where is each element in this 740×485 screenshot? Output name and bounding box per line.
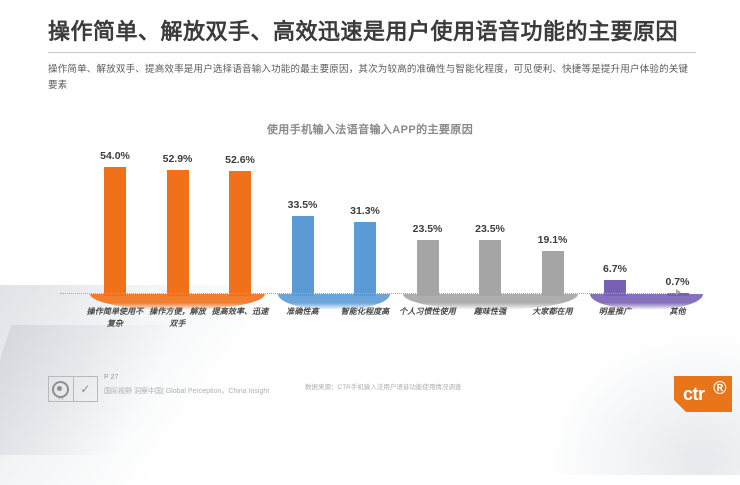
bar-value-label: 33.5%: [288, 199, 318, 211]
bar-group: 6.7%: [586, 3, 644, 296]
page-number: P 27: [104, 374, 118, 381]
bar[interactable]: [354, 222, 376, 296]
category-label: 个人习惯性使用: [399, 306, 457, 318]
footer-brand-line: 国际视野 洞察中国| Global Perception，China Insig…: [104, 386, 269, 396]
x-axis-line: [60, 293, 678, 294]
bar[interactable]: [167, 170, 189, 296]
bar-group: 31.3%: [336, 3, 394, 296]
bar-group: 52.6%: [211, 3, 269, 296]
bar-value-label: 23.5%: [475, 223, 505, 235]
bar-value-label: 52.9%: [163, 153, 193, 165]
category-label: 操作方便，解放双手: [149, 306, 207, 329]
bar[interactable]: [104, 167, 126, 296]
bar-group: 23.5%: [461, 3, 519, 296]
bar-value-label: 23.5%: [413, 223, 443, 235]
bar[interactable]: [229, 171, 251, 296]
bar[interactable]: [542, 251, 564, 296]
bar-value-label: 6.7%: [603, 263, 627, 275]
bar-group: 0.7%: [649, 3, 707, 296]
bar[interactable]: [479, 240, 501, 296]
ctr-logo-trademark: ®: [713, 379, 726, 397]
bar[interactable]: [417, 240, 439, 296]
category-label: 大家都在用: [524, 306, 582, 318]
cert-check-icon: ✓: [73, 377, 98, 401]
bar-value-label: 52.6%: [225, 154, 255, 166]
slide-footer: 认证 ✓ P 27 国际视野 洞察中国| Global Perception，C…: [0, 372, 740, 415]
category-label: 操作简单使用不复杂: [86, 306, 144, 329]
cert-caption: 认证: [58, 396, 64, 400]
bar-group: 23.5%: [399, 3, 457, 296]
bar-value-label: 31.3%: [350, 205, 380, 217]
bar-value-label: 19.1%: [538, 234, 568, 246]
cert-ring-icon: 认证: [49, 377, 73, 401]
bar-chart: 54.0%52.9%52.6%33.5%31.3%23.5%23.5%19.1%…: [0, 0, 740, 296]
category-label: 其他: [649, 306, 707, 318]
bar-group: 33.5%: [274, 3, 332, 296]
x-axis-arrow-icon: [676, 289, 681, 295]
certification-logo: 认证 ✓: [48, 376, 98, 402]
bar-group: 52.9%: [149, 3, 207, 296]
ctr-logo: ctr ®: [674, 376, 732, 412]
category-label: 提高效率、迅速: [211, 306, 269, 318]
category-label: 明星推广: [586, 306, 644, 318]
bar-value-label: 0.7%: [666, 276, 690, 288]
category-label: 趣味性强: [461, 306, 519, 318]
data-source-note: 数据来源：CTR手机输入法用户语音功能使用情况调查: [305, 381, 461, 391]
ctr-logo-text: ctr: [683, 385, 705, 403]
bar-group: 19.1%: [524, 3, 582, 296]
bar-value-label: 54.0%: [100, 150, 130, 162]
bar-group: 54.0%: [86, 3, 144, 296]
bar[interactable]: [292, 216, 314, 296]
category-label: 准确性高: [274, 306, 332, 318]
category-label: 智能化程度高: [336, 306, 394, 318]
